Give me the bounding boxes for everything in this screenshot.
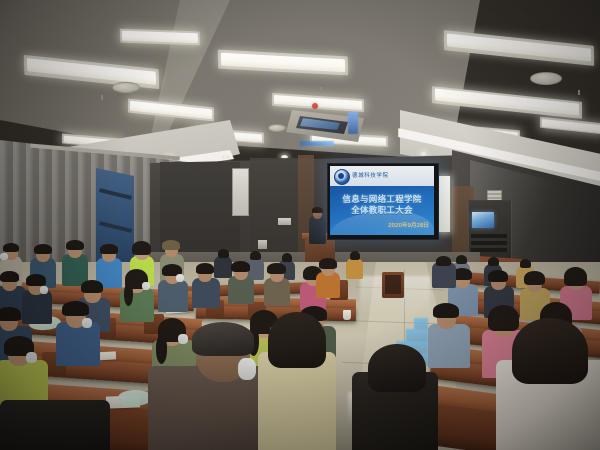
audience-member xyxy=(264,278,290,306)
audience-hair xyxy=(231,261,250,272)
face-mask xyxy=(40,286,48,294)
audience-hair xyxy=(488,257,499,266)
audience-member xyxy=(228,276,254,304)
recessed-downlight xyxy=(222,155,229,159)
audience-hair xyxy=(66,240,84,250)
face-mask xyxy=(178,334,188,344)
audience-hair xyxy=(34,244,52,254)
audience-hair xyxy=(282,253,292,262)
audience-member xyxy=(214,256,232,278)
sprinkler-icon xyxy=(101,95,103,100)
rack-slot xyxy=(471,241,507,245)
audience-ponytail xyxy=(156,336,167,364)
presenter-speaking xyxy=(309,216,326,244)
audience-ponytail xyxy=(124,284,133,306)
audience-hair xyxy=(564,267,587,286)
audience-hair xyxy=(100,244,118,254)
audience-hair xyxy=(196,263,214,274)
face-mask xyxy=(238,358,256,380)
wall-control-panel[interactable] xyxy=(278,218,291,225)
face-mask xyxy=(82,318,92,328)
audience-hair xyxy=(488,270,508,282)
audience-hair xyxy=(250,251,261,260)
face-mask xyxy=(176,274,184,282)
wall-light-strip xyxy=(438,176,450,232)
audience-hair xyxy=(524,271,545,285)
audience-hair xyxy=(0,307,21,321)
audience-member-foreground xyxy=(0,400,110,450)
audience-member xyxy=(192,278,220,308)
audience-hair xyxy=(218,249,229,258)
audience-hair xyxy=(433,303,459,318)
paper-cup xyxy=(343,310,351,320)
audience-hair xyxy=(368,344,426,392)
presenter-hair xyxy=(312,207,323,213)
audience-hair xyxy=(456,255,467,264)
audience-hair xyxy=(488,305,519,331)
face-mask xyxy=(0,253,8,260)
audience-hair xyxy=(267,263,286,274)
slide-date: 2020年9月28日 xyxy=(330,221,429,229)
sprinkler-icon xyxy=(320,87,322,93)
wall-speaker-icon xyxy=(232,168,249,216)
audience-hair xyxy=(512,318,588,384)
ceiling-speaker-icon xyxy=(530,72,562,85)
lecture-hall-photo: 德城科技学院 信息与网络工程学院 全体教职工大会 2020年9月28日 xyxy=(0,0,600,450)
audience-hair xyxy=(436,256,451,266)
rack-slot xyxy=(471,234,507,238)
smoke-detector-icon xyxy=(312,103,318,109)
face-mask xyxy=(142,282,150,290)
ceiling-speaker-icon xyxy=(112,82,140,93)
audience-hair xyxy=(81,280,103,293)
audience-hair xyxy=(319,258,337,269)
rack-monitor-screen[interactable] xyxy=(472,212,494,228)
projector-blue-accent xyxy=(348,112,358,134)
audience-hair xyxy=(132,241,151,255)
projection-screen-slide: 德城科技学院 信息与网络工程学院 全体教职工大会 2020年9月28日 xyxy=(330,166,434,235)
audience-hair xyxy=(192,322,254,356)
wall-outlet-icon[interactable] xyxy=(258,240,267,249)
audience-hair xyxy=(0,271,19,282)
face-mask xyxy=(26,352,37,363)
audience-hair xyxy=(520,259,531,268)
audience-hair xyxy=(268,312,326,368)
audience-member xyxy=(346,258,363,279)
audience-hair xyxy=(26,274,46,286)
sprinkler-icon xyxy=(578,90,580,95)
slide-organization-name: 德城科技学院 xyxy=(352,172,422,181)
audience-member xyxy=(158,280,188,312)
audience-hair xyxy=(3,243,19,252)
audience-hair xyxy=(162,240,180,250)
audience-hair xyxy=(62,301,89,316)
ceiling-speaker-icon xyxy=(268,124,286,132)
chair-seat-shadow xyxy=(385,275,401,294)
audience-hair xyxy=(350,251,360,260)
slide-title-line-2: 全体教职工大会 xyxy=(330,204,434,216)
audience-member xyxy=(56,322,100,366)
recessed-downlight xyxy=(420,152,427,156)
projector-blue-accent xyxy=(300,141,334,146)
audience-member xyxy=(22,290,52,324)
audience-member xyxy=(428,324,470,368)
university-crest-logo-center xyxy=(338,173,344,179)
